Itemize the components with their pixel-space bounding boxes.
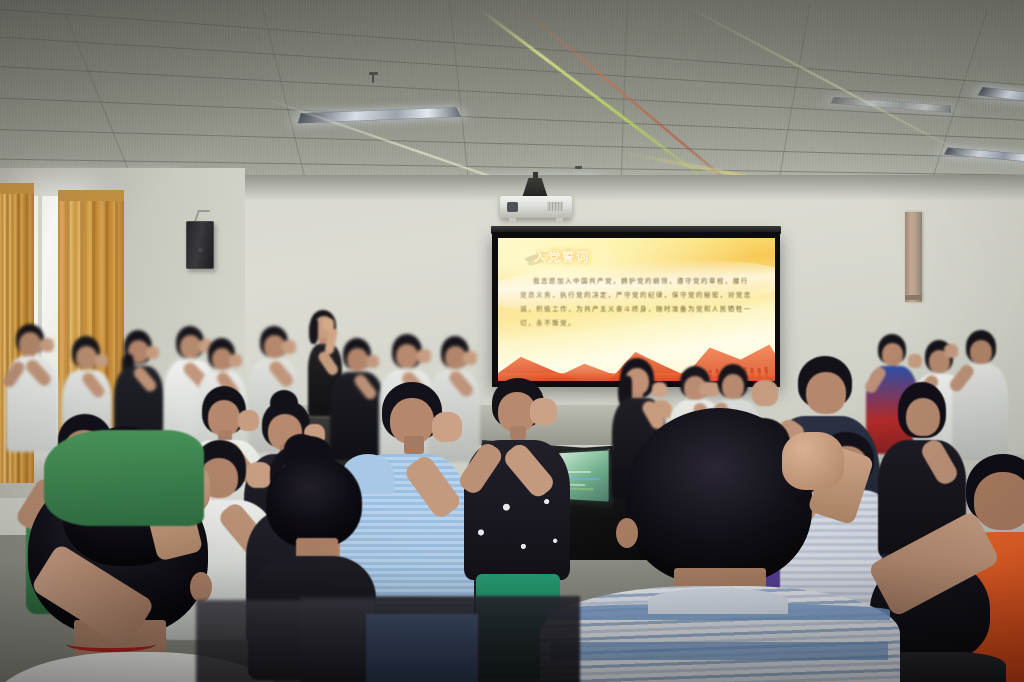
projector-vent — [547, 202, 563, 211]
projector-foot — [556, 218, 563, 223]
foreground-silhouette — [196, 600, 376, 682]
slide-title: 入党誓词 — [534, 248, 590, 265]
slide-subtitle: 誓词 — [603, 257, 615, 264]
ceiling-hook — [372, 74, 374, 83]
curtain-rod-center — [58, 190, 124, 201]
raised-fist — [322, 318, 334, 330]
person-arm-foreground-right — [760, 438, 980, 578]
jeans — [366, 614, 478, 682]
hair-side — [309, 320, 318, 344]
ear — [616, 518, 638, 548]
classroom-photo: 入党誓词 誓词 我志愿加入中国共产党，拥护党的纲领，遵守党的章程，履行党员义务，… — [0, 0, 1024, 682]
ceiling-projector — [500, 196, 572, 218]
green-sleeve — [44, 430, 204, 526]
projector-lens-icon — [507, 202, 518, 212]
slide-body-text: 我志愿加入中国共产党，拥护党的纲领，遵守党的章程，履行党员义务，执行党的决定，严… — [520, 275, 753, 331]
wall-pipe — [905, 212, 922, 302]
projector-foot — [509, 218, 516, 223]
speaker-cone-icon — [196, 246, 204, 254]
ceiling-hook — [575, 166, 582, 169]
curtain-rod-left — [0, 183, 34, 194]
hair — [266, 456, 362, 548]
wall-speaker — [186, 221, 214, 269]
raised-fist — [782, 432, 844, 490]
